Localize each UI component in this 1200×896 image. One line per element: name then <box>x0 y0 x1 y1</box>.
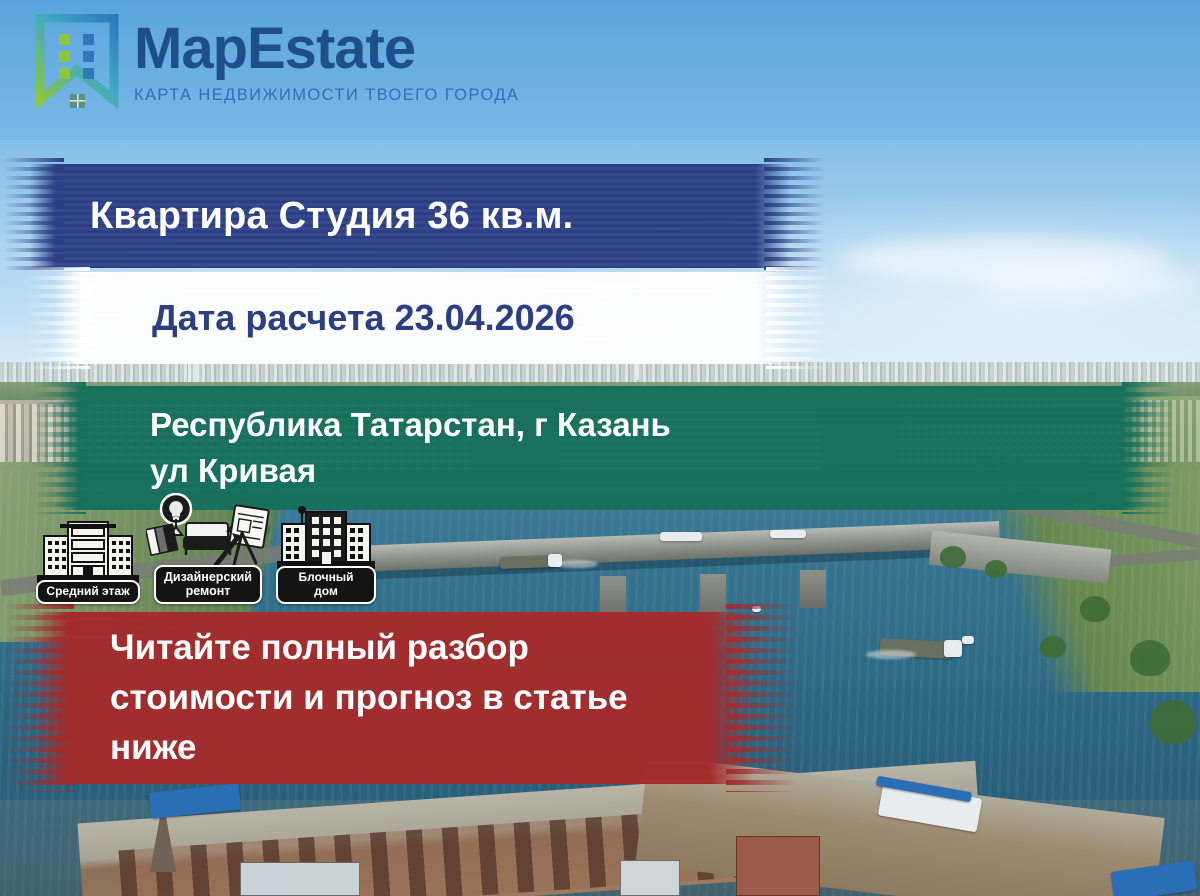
tree <box>940 546 966 568</box>
skyline-tower <box>860 364 863 382</box>
wake <box>866 650 916 659</box>
boat <box>660 532 702 541</box>
logo[interactable]: MapEstate КАРТА НЕДВИЖИМОСТИ ТВОЕГО ГОРО… <box>34 14 519 110</box>
header-bar: MapEstate КАРТА НЕДВИЖИМОСТИ ТВОЕГО ГОРО… <box>0 0 1200 140</box>
cta-line-1: Читайте полный разбор <box>110 623 628 673</box>
property-title-banner: Квартира Студия 36 кв.м. <box>30 164 790 268</box>
tree <box>1130 640 1170 676</box>
white-building <box>620 860 680 896</box>
calculation-date-banner: Дата расчета 23.04.2026 <box>54 272 794 364</box>
badge-mid-floor: Средний этаж <box>36 514 140 604</box>
brush-edge-right <box>1122 382 1174 514</box>
tree <box>1080 596 1110 622</box>
cta-banner: Читайте полный разбор стоимости и прогно… <box>34 612 754 784</box>
calculation-date-text: Дата расчета 23.04.2026 <box>54 297 575 339</box>
tree <box>1040 636 1066 658</box>
brush-edge-right <box>766 267 830 369</box>
red-building <box>736 836 820 896</box>
cta-text-block: Читайте полный разбор стоимости и прогно… <box>34 623 628 772</box>
bridge-pier <box>800 570 826 608</box>
cta-line-3: ниже <box>110 723 628 773</box>
tree <box>985 560 1007 578</box>
mid-rise-building-icon <box>36 514 140 586</box>
panel-block-house-icon <box>276 500 376 572</box>
address-line-street: ул Кривая <box>150 448 671 494</box>
interior-design-icon <box>146 493 270 571</box>
skyline-tower <box>196 362 199 382</box>
badge-label: Блочный дом <box>276 566 376 604</box>
brand-name: MapEstate <box>134 20 519 78</box>
address-line-region-city: Республика Татарстан, г Казань <box>150 402 671 448</box>
property-title-text: Квартира Студия 36 кв.м. <box>30 195 573 238</box>
white-building <box>240 862 360 896</box>
feature-badges: Средний этаж <box>36 508 376 604</box>
logo-text-block: MapEstate КАРТА НЕДВИЖИМОСТИ ТВОЕГО ГОРО… <box>134 20 519 105</box>
poster-canvas: MapEstate КАРТА НЕДВИЖИМОСТИ ТВОЕГО ГОРО… <box>0 0 1200 896</box>
badge-block-house: Блочный дом <box>276 500 376 604</box>
brand-tagline: КАРТА НЕДВИЖИМОСТИ ТВОЕГО ГОРОДА <box>134 86 519 105</box>
bookmark-building-icon <box>34 14 120 110</box>
badge-designer-renovation: Дизайнерский ремонт <box>146 493 270 604</box>
badge-label: Дизайнерский ремонт <box>154 565 262 604</box>
tug <box>944 640 962 657</box>
address-banner: Республика Татарстан, г Казань ул Кривая <box>58 386 1148 510</box>
tree <box>1150 700 1196 744</box>
barge <box>500 555 554 569</box>
wake <box>556 560 598 568</box>
boat <box>770 530 806 538</box>
badge-label: Средний этаж <box>36 580 139 604</box>
cta-line-2: стоимости и прогноз в статье <box>110 673 628 723</box>
address-text-block: Республика Татарстан, г Казань ул Кривая <box>58 402 671 493</box>
brush-edge-right <box>726 604 796 792</box>
brush-edge-right <box>764 158 824 274</box>
cloud <box>980 268 1200 298</box>
small-boat <box>962 636 974 644</box>
